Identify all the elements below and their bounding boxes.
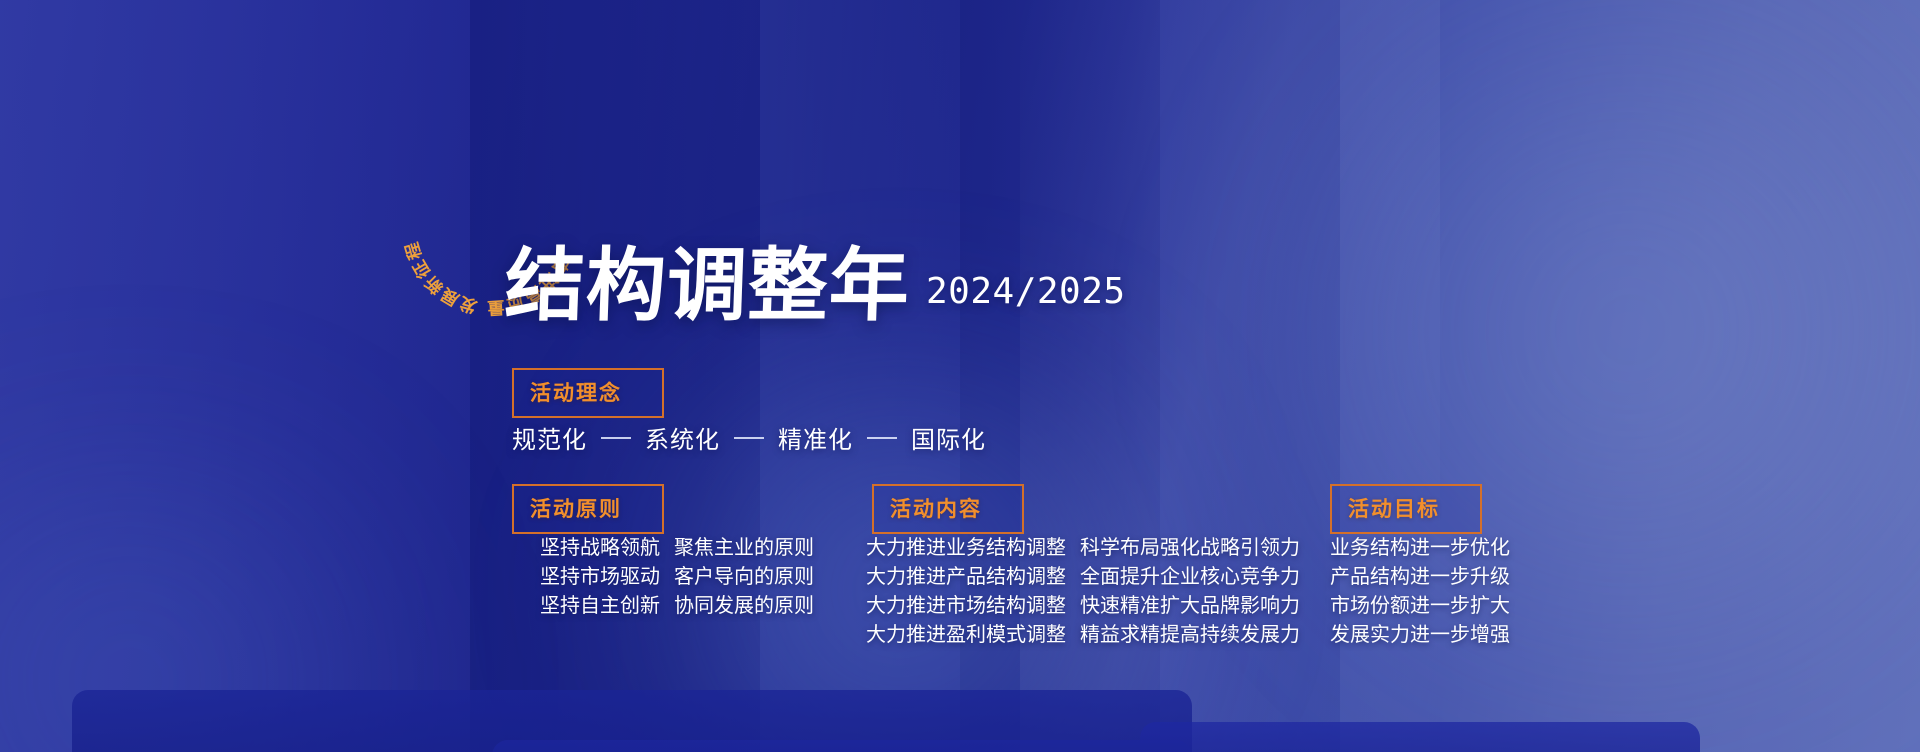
badge-principle[interactable]: 活动原则 xyxy=(512,484,664,534)
row-left: 坚持战略领航 xyxy=(540,533,660,561)
list-item: 大力推进产品结构调整 全面提升企业核心竞争力 xyxy=(866,562,1300,590)
list-item: 坚持战略领航 聚焦主业的原则 xyxy=(540,533,814,561)
list-item: 坚持市场驱动 客户导向的原则 xyxy=(540,562,814,590)
badge-concept[interactable]: 活动理念 xyxy=(512,368,664,418)
list-item: 发展实力进一步增强 xyxy=(1330,620,1510,648)
row-right: 客户导向的原则 xyxy=(674,562,814,590)
row-left: 产品结构进一步升级 xyxy=(1330,562,1510,590)
list-item: 大力推进业务结构调整 科学布局强化战略引领力 xyxy=(866,533,1300,561)
row-left: 大力推进产品结构调整 xyxy=(866,562,1066,590)
title-row: 结构调整年 2024/2025 xyxy=(505,248,1126,324)
list-item: 产品结构进一步升级 xyxy=(1330,562,1510,590)
badge-goal[interactable]: 活动目标 xyxy=(1330,484,1482,534)
background-block-1 xyxy=(72,690,1192,752)
row-left: 发展实力进一步增强 xyxy=(1330,620,1510,648)
row-right: 精益求精提高持续发展力 xyxy=(1080,620,1300,648)
row-right: 协同发展的原则 xyxy=(674,591,814,619)
background-block-3 xyxy=(1140,722,1700,752)
row-left: 坚持自主创新 xyxy=(540,591,660,619)
row-right: 全面提升企业核心竞争力 xyxy=(1080,562,1300,590)
concept-separator-1 xyxy=(734,437,764,439)
principle-list: 坚持战略领航 聚焦主业的原则 坚持市场驱动 客户导向的原则 坚持自主创新 协同发… xyxy=(540,533,814,620)
row-left: 业务结构进一步优化 xyxy=(1330,533,1510,561)
title-year: 2024/2025 xyxy=(926,271,1126,312)
badge-content[interactable]: 活动内容 xyxy=(872,484,1024,534)
concept-item-1: 系统化 xyxy=(645,420,720,455)
row-left: 大力推进业务结构调整 xyxy=(866,533,1066,561)
background-block-2 xyxy=(492,740,1192,752)
list-item: 业务结构进一步优化 xyxy=(1330,533,1510,561)
concept-separator-0 xyxy=(601,437,631,439)
concept-item-0: 规范化 xyxy=(512,420,587,455)
concept-item-2: 精准化 xyxy=(778,420,853,455)
concept-item-3: 国际化 xyxy=(911,420,986,455)
list-item: 市场份额进一步扩大 xyxy=(1330,591,1510,619)
row-right: 聚焦主业的原则 xyxy=(674,533,814,561)
row-right: 快速精准扩大品牌影响力 xyxy=(1080,591,1300,619)
concept-separator-2 xyxy=(867,437,897,439)
list-item: 大力推进市场结构调整 快速精准扩大品牌影响力 xyxy=(866,591,1300,619)
goal-list: 业务结构进一步优化 产品结构进一步升级 市场份额进一步扩大 发展实力进一步增强 xyxy=(1330,533,1510,649)
row-left: 大力推进盈利模式调整 xyxy=(866,620,1066,648)
row-right: 科学布局强化战略引领力 xyxy=(1080,533,1300,561)
background-band-1 xyxy=(0,0,470,752)
row-left: 市场份额进一步扩大 xyxy=(1330,591,1510,619)
list-item: 坚持自主创新 协同发展的原则 xyxy=(540,591,814,619)
row-left: 坚持市场驱动 xyxy=(540,562,660,590)
background-glow-left xyxy=(0,420,520,752)
concept-items: 规范化 系统化 精准化 国际化 xyxy=(512,420,986,455)
page-title: 结构调整年 xyxy=(504,248,912,324)
list-item: 大力推进盈利模式调整 精益求精提高持续发展力 xyxy=(866,620,1300,648)
campaign-banner: 奋进高质量 发展新征程 赋能新转型 增动能 结构调整年 2024/2025 活动… xyxy=(0,0,1920,752)
content-list: 大力推进业务结构调整 科学布局强化战略引领力 大力推进产品结构调整 全面提升企业… xyxy=(866,533,1300,649)
row-left: 大力推进市场结构调整 xyxy=(866,591,1066,619)
